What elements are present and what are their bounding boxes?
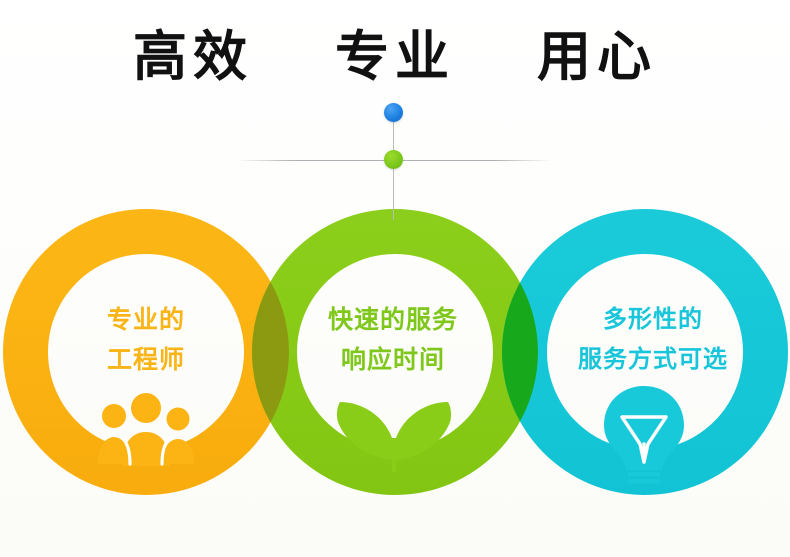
lightbulb-icon	[588, 384, 700, 484]
green-dot-icon	[384, 150, 403, 169]
headline-segment-3: 用心	[537, 26, 657, 88]
ring-engineers-line-2: 工程师	[41, 340, 251, 380]
poster-canvas: 高效 专业 用心	[0, 0, 790, 557]
ring-service-modes-line-1: 多形性的	[538, 300, 768, 340]
headline-segment-1: 高效	[133, 26, 253, 88]
ring-service-modes-text: 多形性的 服务方式可选	[538, 300, 768, 380]
ring-response-line-2: 响应时间	[288, 340, 498, 380]
blue-dot-icon	[384, 103, 403, 122]
headline-segment-2: 专业	[335, 26, 455, 88]
ring-response-line-1: 快速的服务	[288, 300, 498, 340]
ring-response-text: 快速的服务 响应时间	[288, 300, 498, 380]
ring-engineers-line-1: 专业的	[41, 300, 251, 340]
people-group-icon	[96, 390, 196, 470]
page-title: 高效 专业 用心	[0, 26, 790, 88]
ring-service-modes-line-2: 服务方式可选	[538, 340, 768, 380]
ring-engineers-text: 专业的 工程师	[41, 300, 251, 380]
sprout-leaf-icon	[330, 382, 458, 474]
